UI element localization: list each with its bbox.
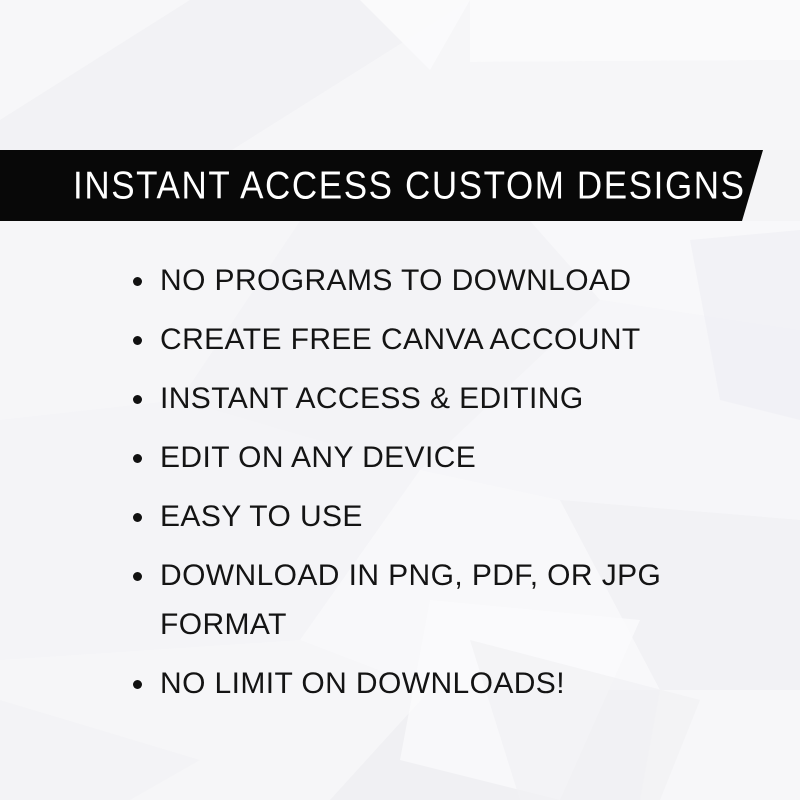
list-item: EASY TO USE (132, 492, 732, 541)
list-item-label: NO LIMIT ON DOWNLOADS! (160, 667, 565, 700)
bullet-icon (133, 336, 142, 345)
page-title: INSTANT ACCESS CUSTOM DESIGNS (73, 146, 746, 226)
bullet-icon (133, 513, 142, 522)
list-item: NO PROGRAMS TO DOWNLOAD (132, 256, 732, 305)
list-item-label: EDIT ON ANY DEVICE (160, 441, 476, 474)
list-item-label: CREATE FREE CANVA ACCOUNT (160, 323, 641, 356)
list-item-label: DOWNLOAD IN PNG, PDF, OR JPG FORMAT (160, 559, 661, 641)
title-banner: INSTANT ACCESS CUSTOM DESIGNS (0, 150, 775, 221)
bullet-icon (133, 395, 142, 404)
benefits-list: NO PROGRAMS TO DOWNLOAD CREATE FREE CANV… (132, 256, 732, 708)
list-item: EDIT ON ANY DEVICE (132, 433, 732, 482)
list-item-label: INSTANT ACCESS & EDITING (160, 382, 584, 415)
list-item: DOWNLOAD IN PNG, PDF, OR JPG FORMAT (132, 551, 732, 649)
list-item-label: EASY TO USE (160, 500, 363, 533)
bullet-icon (133, 680, 142, 689)
bullet-icon (133, 454, 142, 463)
list-item: INSTANT ACCESS & EDITING (132, 374, 732, 423)
bullet-icon (133, 572, 142, 581)
promo-graphic: INSTANT ACCESS CUSTOM DESIGNS NO PROGRAM… (0, 0, 800, 800)
bullet-icon (133, 277, 142, 286)
list-item: CREATE FREE CANVA ACCOUNT (132, 315, 732, 364)
list-item: NO LIMIT ON DOWNLOADS! (132, 659, 732, 708)
list-item-label: NO PROGRAMS TO DOWNLOAD (160, 264, 631, 297)
